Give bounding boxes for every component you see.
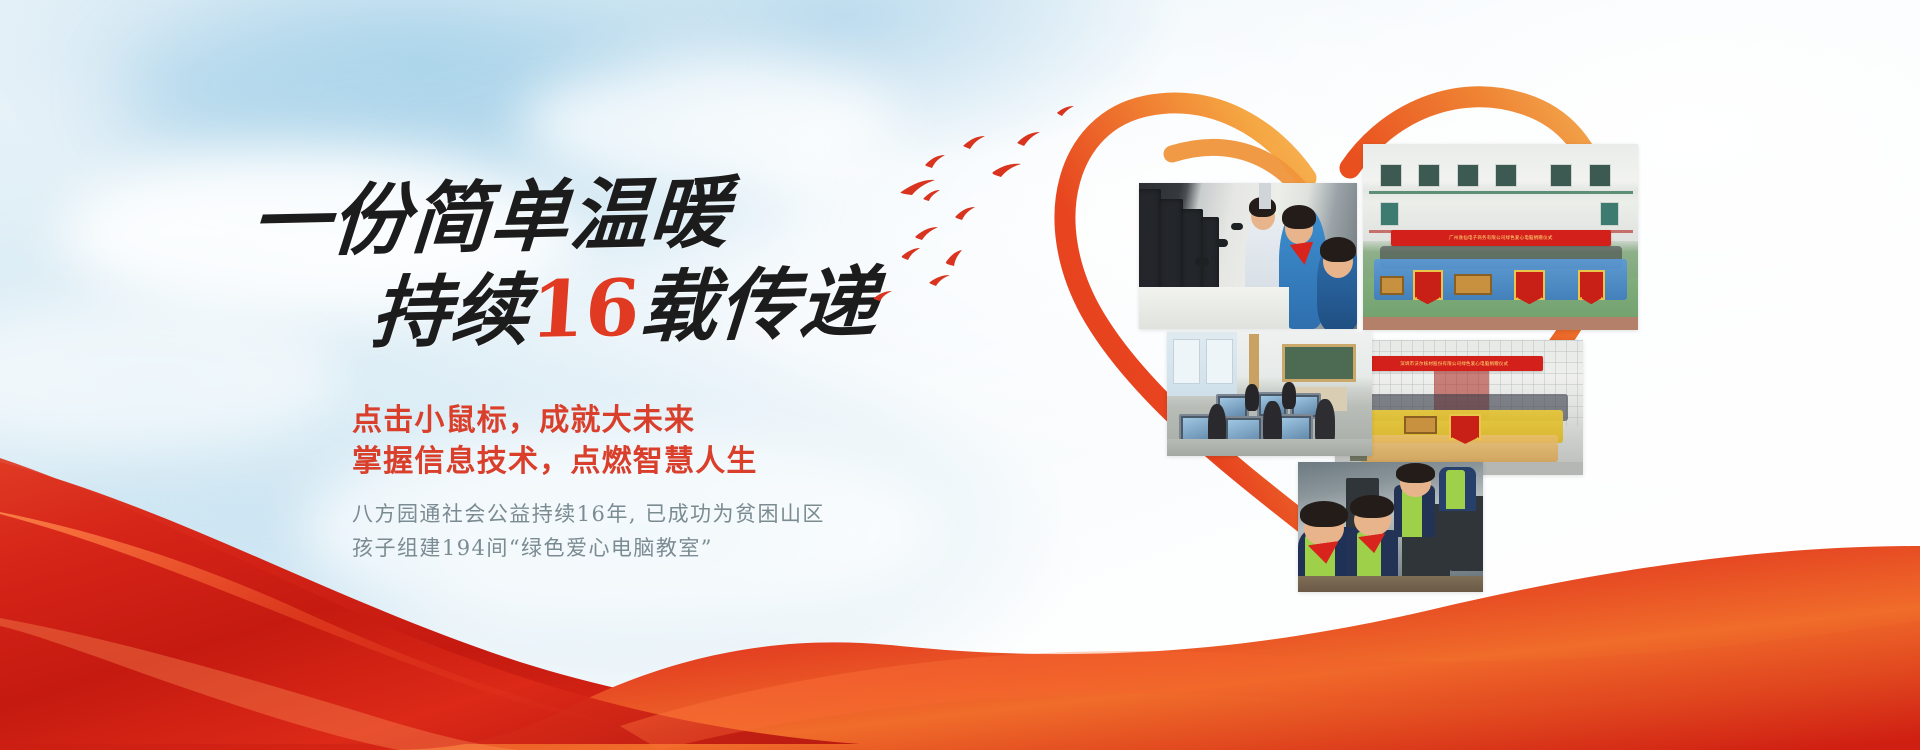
charity-banner: 一份简单温暖 持续16载传递 点击小鼠标，成就大未来 掌握信息技术，点燃智慧人生… — [0, 0, 1920, 750]
headline-line-2-prefix: 持续 — [368, 265, 534, 359]
ceremony-banner-text: 广州逸仙电子商务有限公司绿色爱心电脑捐赠仪式 — [1391, 230, 1611, 247]
slogan-line-1: 点击小鼠标，成就大未来 — [352, 400, 758, 441]
photo-ceremony-outdoor: 广州逸仙电子商务有限公司绿色爱心电脑捐赠仪式 — [1363, 144, 1638, 330]
photo-kids-computers — [1298, 462, 1483, 592]
headline-line-2-suffix: 载传递 — [637, 258, 882, 354]
photo-classroom-wide — [1167, 332, 1372, 456]
red-silk-ribbon — [0, 450, 1920, 750]
ceremony-indoor-banner-text: 深圳市沃尔核材股份有限公司绿色爱心电脑捐赠仪式 — [1365, 356, 1544, 371]
photo-ceremony-indoor: 深圳市沃尔核材股份有限公司绿色爱心电脑捐赠仪式 — [1335, 340, 1583, 475]
photo-lab-closeup — [1139, 183, 1357, 329]
headline-year-count: 16 — [528, 263, 643, 356]
